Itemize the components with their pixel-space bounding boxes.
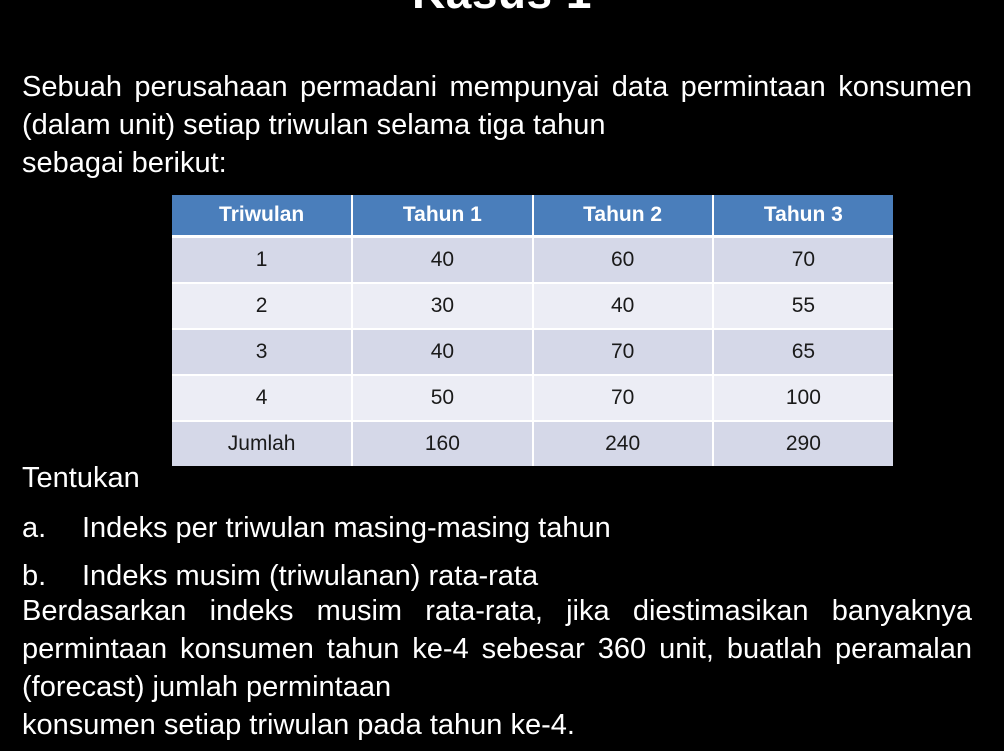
cell-tahun-3: 55 (713, 283, 893, 329)
cell-total-tahun-1: 160 (352, 421, 532, 466)
intro-line-1: Sebuah perusahaan permadani mempunyai da… (22, 71, 826, 103)
cell-tahun-3: 70 (713, 237, 893, 284)
table-row: 2 30 40 55 (172, 283, 893, 329)
cell-total-tahun-3: 290 (713, 421, 893, 466)
cell-total-label: Jumlah (172, 421, 352, 466)
cell-tahun-1: 40 (352, 329, 532, 375)
list-marker: a. (22, 504, 82, 552)
question-list: a. Indeks per triwulan masing-masing tah… (22, 504, 972, 600)
column-header-triwulan: Triwulan (172, 195, 352, 237)
closing-paragraph: Berdasarkan indeks musim rata-rata, jika… (22, 592, 972, 744)
cell-triwulan: 3 (172, 329, 352, 375)
cell-tahun-2: 70 (533, 375, 713, 421)
table-body: 1 40 60 70 2 30 40 55 3 40 70 65 4 50 70 (172, 237, 893, 467)
cell-tahun-2: 70 (533, 329, 713, 375)
closing-line-4: konsumen setiap triwulan pada tahun ke-4… (22, 706, 972, 744)
column-header-tahun-3: Tahun 3 (713, 195, 893, 237)
slide-canvas: Kasus 1 Sebuah perusahaan permadani memp… (0, 0, 1004, 751)
list-item: a. Indeks per triwulan masing-masing tah… (22, 504, 972, 552)
table-row: 1 40 60 70 (172, 237, 893, 284)
cell-tahun-2: 40 (533, 283, 713, 329)
cell-tahun-1: 30 (352, 283, 532, 329)
list-item-label: Indeks per triwulan masing-masing tahun (82, 504, 972, 552)
cell-tahun-3: 65 (713, 329, 893, 375)
page-title: Kasus 1 (0, 0, 1004, 18)
table-row: 3 40 70 65 (172, 329, 893, 375)
table-header: Triwulan Tahun 1 Tahun 2 Tahun 3 (172, 195, 893, 237)
prompt-tentukan: Tentukan (22, 459, 140, 497)
intro-line-3: sebagai berikut: (22, 144, 972, 182)
cell-triwulan: 1 (172, 237, 352, 284)
cell-triwulan: 4 (172, 375, 352, 421)
intro-paragraph: Sebuah perusahaan permadani mempunyai da… (22, 68, 972, 182)
cell-tahun-1: 50 (352, 375, 532, 421)
table-row: 4 50 70 100 (172, 375, 893, 421)
column-header-tahun-1: Tahun 1 (352, 195, 532, 237)
table-header-row: Triwulan Tahun 1 Tahun 2 Tahun 3 (172, 195, 893, 237)
closing-line-1: Berdasarkan indeks musim rata-rata, jika… (22, 595, 809, 627)
column-header-tahun-2: Tahun 2 (533, 195, 713, 237)
cell-triwulan: 2 (172, 283, 352, 329)
table-total-row: Jumlah 160 240 290 (172, 421, 893, 466)
cell-total-tahun-2: 240 (533, 421, 713, 466)
demand-table: Triwulan Tahun 1 Tahun 2 Tahun 3 1 40 60… (172, 195, 893, 466)
cell-tahun-2: 60 (533, 237, 713, 284)
cell-tahun-1: 40 (352, 237, 532, 284)
cell-tahun-3: 100 (713, 375, 893, 421)
